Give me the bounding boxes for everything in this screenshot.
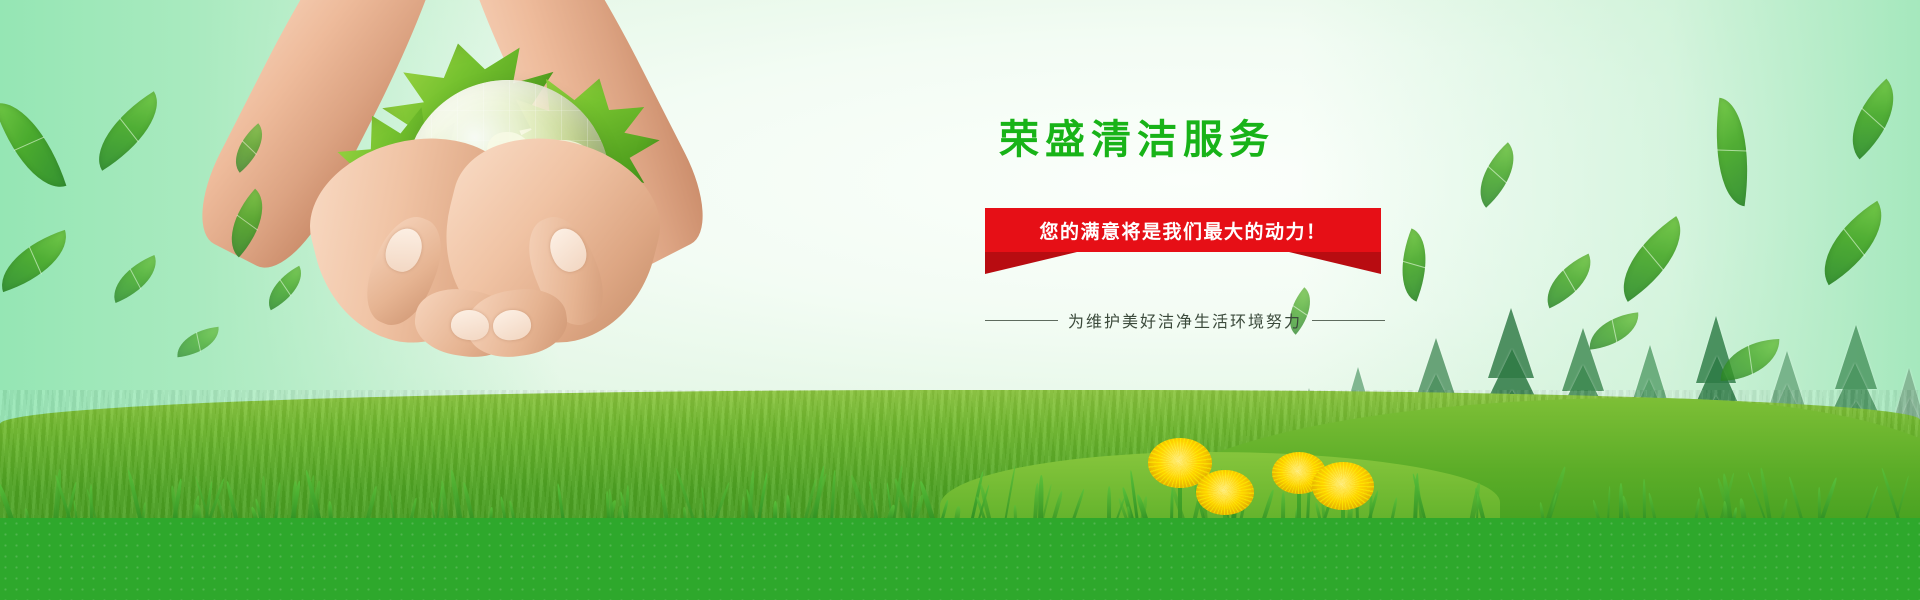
grass-blade xyxy=(1817,487,1820,522)
ribbon-tail-left-icon xyxy=(985,252,1077,274)
flower-petals xyxy=(1196,470,1254,515)
slogan-ribbon: 您的满意将是我们最大的动力！ xyxy=(985,208,1381,252)
hero-copy: 荣盛清洁服务 您的满意将是我们最大的动力！ 为维护美好洁净生活环境努力 xyxy=(985,120,1505,332)
slogan-ribbon-text: 您的满意将是我们最大的动力！ xyxy=(1039,217,1326,244)
tagline-rule-left xyxy=(985,320,1058,321)
tagline: 为维护美好洁净生活环境努力 xyxy=(985,308,1385,332)
grass-blade xyxy=(261,476,266,522)
grass-blade xyxy=(1107,486,1111,522)
flower-petals xyxy=(1312,462,1374,510)
hands-holding-globe-image xyxy=(255,0,725,410)
bottom-green-band xyxy=(0,518,1920,600)
grass-blade xyxy=(1643,479,1646,522)
hero-banner: 荣盛清洁服务 您的满意将是我们最大的动力！ 为维护美好洁净生活环境努力 xyxy=(0,0,1920,600)
tagline-text: 为维护美好洁净生活环境努力 xyxy=(1068,308,1302,332)
tagline-rule-right xyxy=(1312,320,1385,321)
ribbon-tail-right-icon xyxy=(1289,252,1381,274)
page-title: 荣盛清洁服务 xyxy=(999,120,1505,160)
